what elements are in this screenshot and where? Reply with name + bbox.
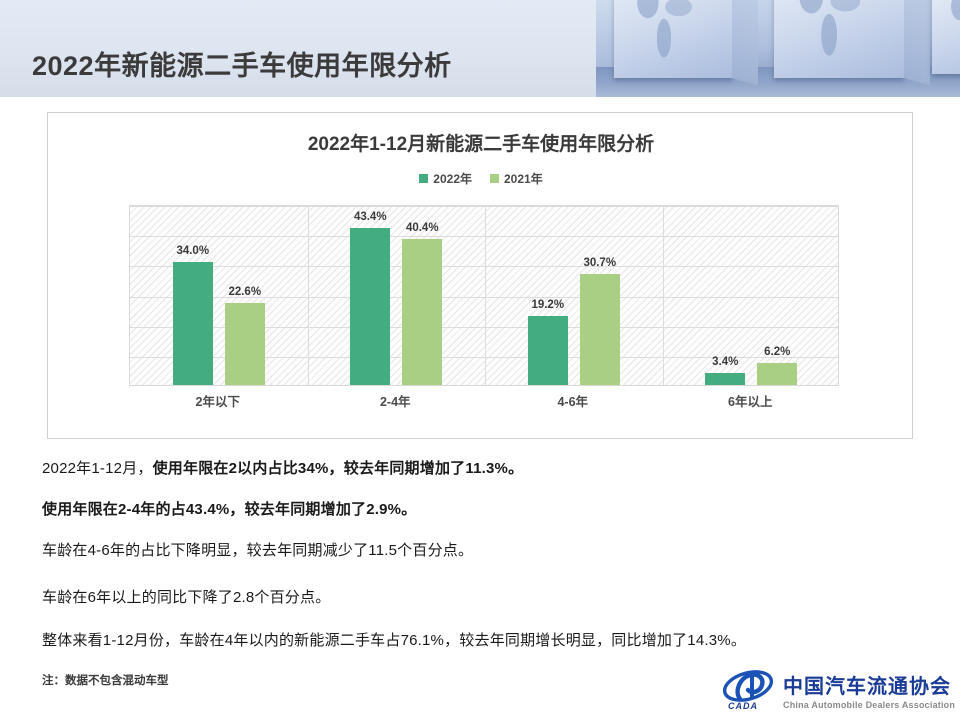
logo-wordmark: 中国汽车流通协会 China Automobile Dealers Associ… — [783, 670, 955, 710]
x-axis-category-label: 4-6年 — [484, 391, 662, 410]
analysis-line-1: 2022年1-12月，使用年限在2以内占比34%，较去年同期增加了11.3%。 — [42, 457, 523, 478]
cube-side-face — [732, 0, 758, 85]
legend-label: 2021年 — [504, 170, 543, 187]
chart-bar: 19.2% — [528, 316, 568, 386]
legend-swatch-icon — [490, 174, 499, 183]
cube-stack-image — [596, 0, 960, 97]
cube-world-map-texture — [787, 0, 868, 69]
x-axis-category-label: 2-4年 — [307, 391, 485, 410]
chart-title: 2022年1-12月新能源二手车使用年限分析 — [48, 129, 914, 156]
bar-group: 3.4%6.2% — [663, 206, 840, 385]
footnote: 注：数据不包含混动车型 — [42, 672, 169, 688]
logo-english-name: China Automobile Dealers Association — [783, 700, 955, 710]
cube-side-face — [904, 0, 930, 85]
chart-legend: 2022年 2021年 — [48, 170, 914, 187]
bar-group: 19.2%30.7% — [485, 206, 663, 385]
bar-value-label: 6.2% — [764, 346, 790, 358]
bar-group: 43.4%40.4% — [308, 206, 486, 385]
bar-value-label: 3.4% — [712, 356, 738, 368]
logo-chinese-name: 中国汽车流通协会 — [783, 670, 955, 699]
chart-bar: 30.7% — [580, 274, 620, 385]
legend-swatch-icon — [419, 174, 428, 183]
decorative-cube — [614, 0, 732, 78]
bar-group: 34.0%22.6% — [130, 206, 308, 385]
chart-bar: 43.4% — [350, 228, 390, 385]
analysis-line-1-emphasis: 使用年限在2以内占比34%，较去年同期增加了11.3%。 — [153, 460, 524, 477]
legend-item-series-2: 2021年 — [490, 170, 543, 187]
x-axis-category-label: 2年以下 — [129, 391, 307, 410]
bar-value-label: 40.4% — [406, 222, 439, 234]
analysis-line-3: 车龄在4-6年的占比下降明显，较去年同期减少了11.5个百分点。 — [42, 539, 473, 560]
chart-bar: 6.2% — [757, 363, 797, 385]
cube-world-map-texture — [626, 0, 699, 70]
chart-bar: 22.6% — [225, 303, 265, 385]
x-axis-category-label: 6年以上 — [662, 391, 840, 410]
organization-logo: CADA 中国汽车流通协会 China Automobile Dealers A… — [722, 666, 954, 714]
bar-value-label: 19.2% — [531, 299, 564, 311]
bar-value-label: 22.6% — [228, 286, 261, 298]
chart-card: 2022年1-12月新能源二手车使用年限分析 2022年 2021年 34.0%… — [47, 112, 913, 439]
legend-item-series-1: 2022年 — [419, 170, 472, 187]
cube-world-map-texture — [942, 0, 960, 67]
chart-bar: 34.0% — [173, 262, 213, 385]
analysis-line-4: 车龄在6年以上的同比下降了2.8个百分点。 — [42, 586, 330, 607]
legend-label: 2022年 — [433, 170, 472, 187]
analysis-line-1-prefix: 2022年1-12月， — [42, 460, 153, 477]
analysis-line-5: 整体来看1-12月份，车龄在4年以内的新能源二手车占76.1%，较去年同期增长明… — [42, 629, 746, 650]
chart-plot-area: 34.0%22.6%43.4%40.4%19.2%30.7%3.4%6.2% — [129, 205, 839, 386]
bar-value-label: 30.7% — [583, 257, 616, 269]
cada-swoosh-icon: CADA — [722, 669, 776, 711]
chart-bar: 3.4% — [705, 373, 745, 385]
chart-bar: 40.4% — [402, 239, 442, 385]
logo-abbreviation: CADA — [728, 701, 758, 711]
bar-value-label: 34.0% — [176, 245, 209, 257]
decorative-cube — [932, 0, 960, 74]
slide-header-band: 2022年新能源二手车使用年限分析 — [0, 0, 960, 97]
bar-value-label: 43.4% — [354, 211, 387, 223]
analysis-line-2: 使用年限在2-4年的占43.4%，较去年同期增加了2.9%。 — [42, 498, 416, 519]
page-title: 2022年新能源二手车使用年限分析 — [32, 44, 452, 83]
decorative-cube — [774, 0, 904, 78]
